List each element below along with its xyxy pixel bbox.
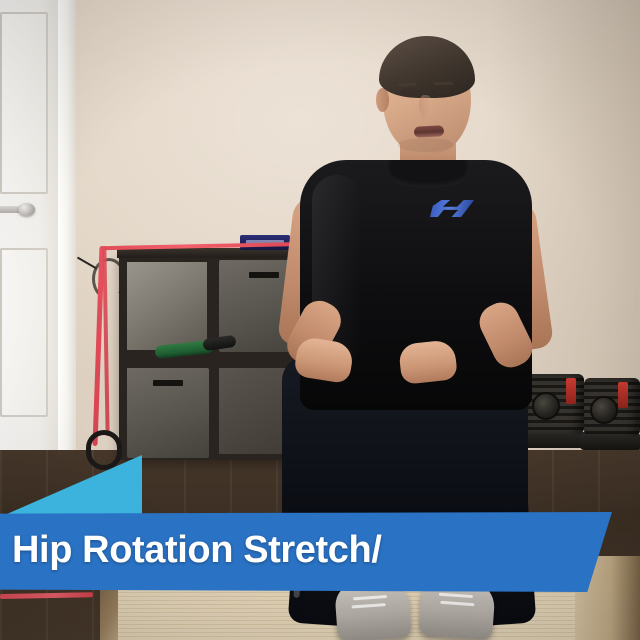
- chin-shadow: [398, 138, 454, 152]
- ear: [376, 88, 389, 112]
- hair: [379, 36, 475, 98]
- hand-right: [398, 339, 458, 385]
- video-frame: Hip Rotation Stretch/: [0, 0, 640, 640]
- eyebrow-right: [434, 82, 453, 85]
- shirt-collar: [388, 160, 468, 188]
- title-text: Hip Rotation Stretch/: [12, 529, 382, 572]
- eye-left: [400, 90, 415, 96]
- eye-right: [436, 89, 451, 95]
- mouth: [414, 125, 445, 138]
- nose: [419, 95, 432, 117]
